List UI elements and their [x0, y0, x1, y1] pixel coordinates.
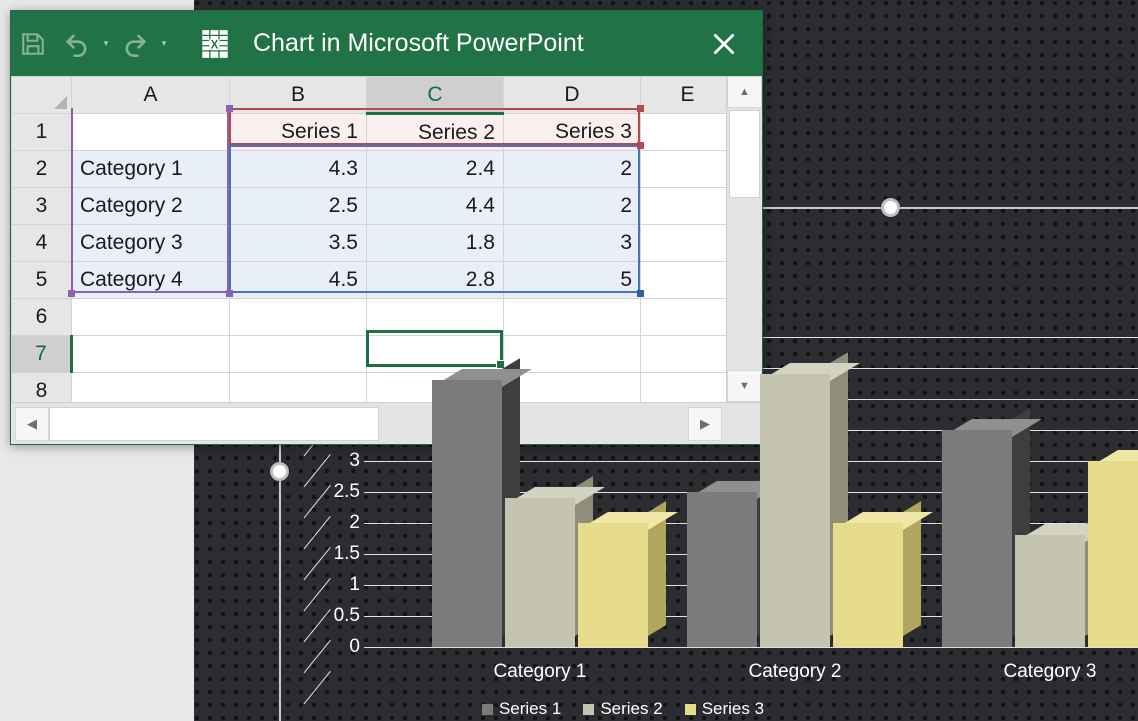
cell-B4[interactable]: 3.5: [230, 225, 367, 262]
column-header-b[interactable]: B: [230, 77, 367, 114]
legend-item[interactable]: Series 2: [583, 699, 662, 719]
redo-icon[interactable]: [113, 22, 157, 66]
scroll-right-arrow[interactable]: ▶: [688, 407, 722, 441]
excel-body: ABCDE1Series 1Series 2Series 32Category …: [11, 76, 762, 444]
cell-E8[interactable]: [641, 373, 727, 403]
chart-bar-face: [505, 498, 575, 647]
chart-bar-face: [760, 374, 830, 647]
chart-category-label: Category 1: [412, 661, 668, 683]
cell-C2[interactable]: 2.4: [367, 151, 504, 188]
svg-text:X: X: [211, 39, 219, 51]
chart-axis-riser: [304, 578, 331, 611]
cell-B6[interactable]: [230, 299, 367, 336]
column-header-d[interactable]: D: [504, 77, 641, 114]
cell-A6[interactable]: [72, 299, 230, 336]
legend-item[interactable]: Series 1: [482, 699, 561, 719]
spreadsheet-table[interactable]: ABCDE1Series 1Series 2Series 32Category …: [11, 76, 726, 402]
excel-grid[interactable]: ABCDE1Series 1Series 2Series 32Category …: [11, 76, 726, 402]
y-axis-tick: 1.5: [334, 544, 360, 563]
chart-bar-face: [432, 380, 502, 647]
table-row[interactable]: 5Category 44.52.85: [12, 262, 727, 299]
app-root: Category 1Category 2Category 3Category 4…: [0, 0, 1138, 721]
cell-B3[interactable]: 2.5: [230, 188, 367, 225]
row-header-8[interactable]: 8: [12, 373, 72, 403]
chart-gridline: [364, 647, 1138, 648]
cell-E1[interactable]: [641, 114, 727, 151]
cell-D3[interactable]: 2: [504, 188, 641, 225]
chart-axis-riser: [304, 516, 331, 549]
chart-bar[interactable]: [578, 523, 648, 647]
chart-legend[interactable]: Series 1Series 2Series 3: [194, 699, 1138, 719]
chart-bar[interactable]: [1088, 461, 1138, 647]
chart-category-label: Category 2: [667, 661, 923, 683]
cell-B8[interactable]: [230, 373, 367, 403]
legend-swatch: [685, 704, 696, 715]
legend-label: Series 1: [499, 699, 561, 719]
vertical-scroll-thumb[interactable]: [729, 110, 760, 198]
chart-axis-riser: [304, 640, 331, 673]
vertical-scrollbar[interactable]: ▲ ▼: [726, 76, 762, 402]
chart-bar-face: [942, 430, 1012, 647]
row-header-4[interactable]: 4: [12, 225, 72, 262]
table-row[interactable]: 6: [12, 299, 727, 336]
row-header-7[interactable]: 7: [12, 336, 72, 373]
cell-E2[interactable]: [641, 151, 727, 188]
chart-axis-riser: [304, 609, 331, 642]
vertical-scroll-track[interactable]: [727, 108, 762, 370]
cell-A8[interactable]: [72, 373, 230, 403]
y-axis-tick: 0.5: [334, 606, 360, 625]
cell-A1[interactable]: [72, 114, 230, 151]
scroll-up-arrow[interactable]: ▲: [727, 76, 762, 108]
cell-D1[interactable]: Series 3: [504, 114, 641, 151]
cell-C3[interactable]: 4.4: [367, 188, 504, 225]
table-row[interactable]: 4Category 33.51.83: [12, 225, 727, 262]
horizontal-scrollbar[interactable]: ◀ ▶: [11, 402, 762, 444]
table-row[interactable]: 3Category 22.54.42: [12, 188, 727, 225]
row-header-6[interactable]: 6: [12, 299, 72, 336]
cell-A3[interactable]: Category 2: [72, 188, 230, 225]
excel-title-bar: ▾ ▾ X Chart in Micro: [11, 11, 762, 76]
y-axis-tick: 2: [349, 513, 360, 532]
excel-datasheet-window[interactable]: ▾ ▾ X Chart in Micro: [10, 10, 763, 445]
table-row[interactable]: 2Category 14.32.42: [12, 151, 727, 188]
cell-C5[interactable]: 2.8: [367, 262, 504, 299]
cell-A4[interactable]: Category 3: [72, 225, 230, 262]
table-row[interactable]: 1Series 1Series 2Series 3: [12, 114, 727, 151]
chart-bar[interactable]: [1015, 535, 1085, 647]
chart-axis-riser: [304, 454, 331, 487]
y-axis-tick: 3: [349, 451, 360, 470]
cell-E6[interactable]: [641, 299, 727, 336]
legend-label: Series 2: [600, 699, 662, 719]
chart-bar-face: [1088, 461, 1138, 647]
excel-worksheet-icon[interactable]: X: [193, 22, 237, 66]
chart-bar[interactable]: [833, 523, 903, 647]
chart-axis-riser: [304, 485, 331, 518]
column-header-e[interactable]: E: [641, 77, 727, 114]
cell-A5[interactable]: Category 4: [72, 262, 230, 299]
cell-D2[interactable]: 2: [504, 151, 641, 188]
row-header-5[interactable]: 5: [12, 262, 72, 299]
cell-B7[interactable]: [230, 336, 367, 373]
close-icon[interactable]: [704, 24, 744, 64]
chart-selection-handle-left[interactable]: [270, 462, 289, 481]
chart-selection-handle-top[interactable]: [881, 198, 900, 217]
horizontal-scroll-track[interactable]: [49, 407, 688, 441]
column-header-c[interactable]: C: [367, 77, 504, 114]
cell-B5[interactable]: 4.5: [230, 262, 367, 299]
y-axis-tick: 2.5: [334, 482, 360, 501]
cell-E3[interactable]: [641, 188, 727, 225]
cell-D7[interactable]: [504, 336, 641, 373]
chart-bar-face: [1015, 535, 1085, 647]
table-row[interactable]: 8: [12, 373, 727, 403]
chart-bar-face: [833, 523, 903, 647]
chart-axis-riser: [304, 547, 331, 580]
cell-D8[interactable]: [504, 373, 641, 403]
cell-B1[interactable]: Series 1: [230, 114, 367, 151]
row-header-3[interactable]: 3: [12, 188, 72, 225]
cell-E4[interactable]: [641, 225, 727, 262]
cell-C4[interactable]: 1.8: [367, 225, 504, 262]
chart-bar[interactable]: [432, 380, 502, 647]
cell-E7[interactable]: [641, 336, 727, 373]
select-all-corner[interactable]: [12, 77, 72, 114]
chart-bar[interactable]: [760, 374, 830, 647]
chart-bar[interactable]: [942, 430, 1012, 647]
chart-bar[interactable]: [505, 498, 575, 647]
cell-C7[interactable]: [367, 336, 504, 373]
window-title: Chart in Microsoft PowerPoint: [253, 29, 584, 58]
chart-category-label: Category 3: [922, 661, 1138, 683]
redo-dropdown-caret[interactable]: ▾: [157, 22, 171, 66]
cell-D5[interactable]: 5: [504, 262, 641, 299]
chart-bar-face: [687, 492, 757, 647]
cell-A7[interactable]: [72, 336, 230, 373]
legend-label: Series 3: [702, 699, 764, 719]
undo-icon[interactable]: [55, 22, 99, 66]
horizontal-scroll-thumb[interactable]: [49, 407, 379, 441]
chart-bar-face: [578, 523, 648, 647]
legend-swatch: [482, 704, 493, 715]
excel-grid-wrapper: ABCDE1Series 1Series 2Series 32Category …: [11, 76, 762, 402]
scroll-left-arrow[interactable]: ◀: [15, 407, 49, 441]
cell-C6[interactable]: [367, 299, 504, 336]
column-header-a[interactable]: A: [72, 77, 230, 114]
cell-A2[interactable]: Category 1: [72, 151, 230, 188]
cell-D6[interactable]: [504, 299, 641, 336]
y-axis-tick: 1: [349, 575, 360, 594]
chart-bar[interactable]: [687, 492, 757, 647]
legend-swatch: [583, 704, 594, 715]
save-icon[interactable]: [11, 22, 55, 66]
cell-D4[interactable]: 3: [504, 225, 641, 262]
row-header-2[interactable]: 2: [12, 151, 72, 188]
table-row[interactable]: 7: [12, 336, 727, 373]
legend-item[interactable]: Series 3: [685, 699, 764, 719]
scroll-down-arrow[interactable]: ▼: [727, 370, 762, 402]
y-axis-tick: 0: [349, 637, 360, 656]
undo-dropdown-caret[interactable]: ▾: [99, 22, 113, 66]
cell-E5[interactable]: [641, 262, 727, 299]
cell-B2[interactable]: 4.3: [230, 151, 367, 188]
row-header-1[interactable]: 1: [12, 114, 72, 151]
cell-C1[interactable]: Series 2: [367, 114, 504, 151]
